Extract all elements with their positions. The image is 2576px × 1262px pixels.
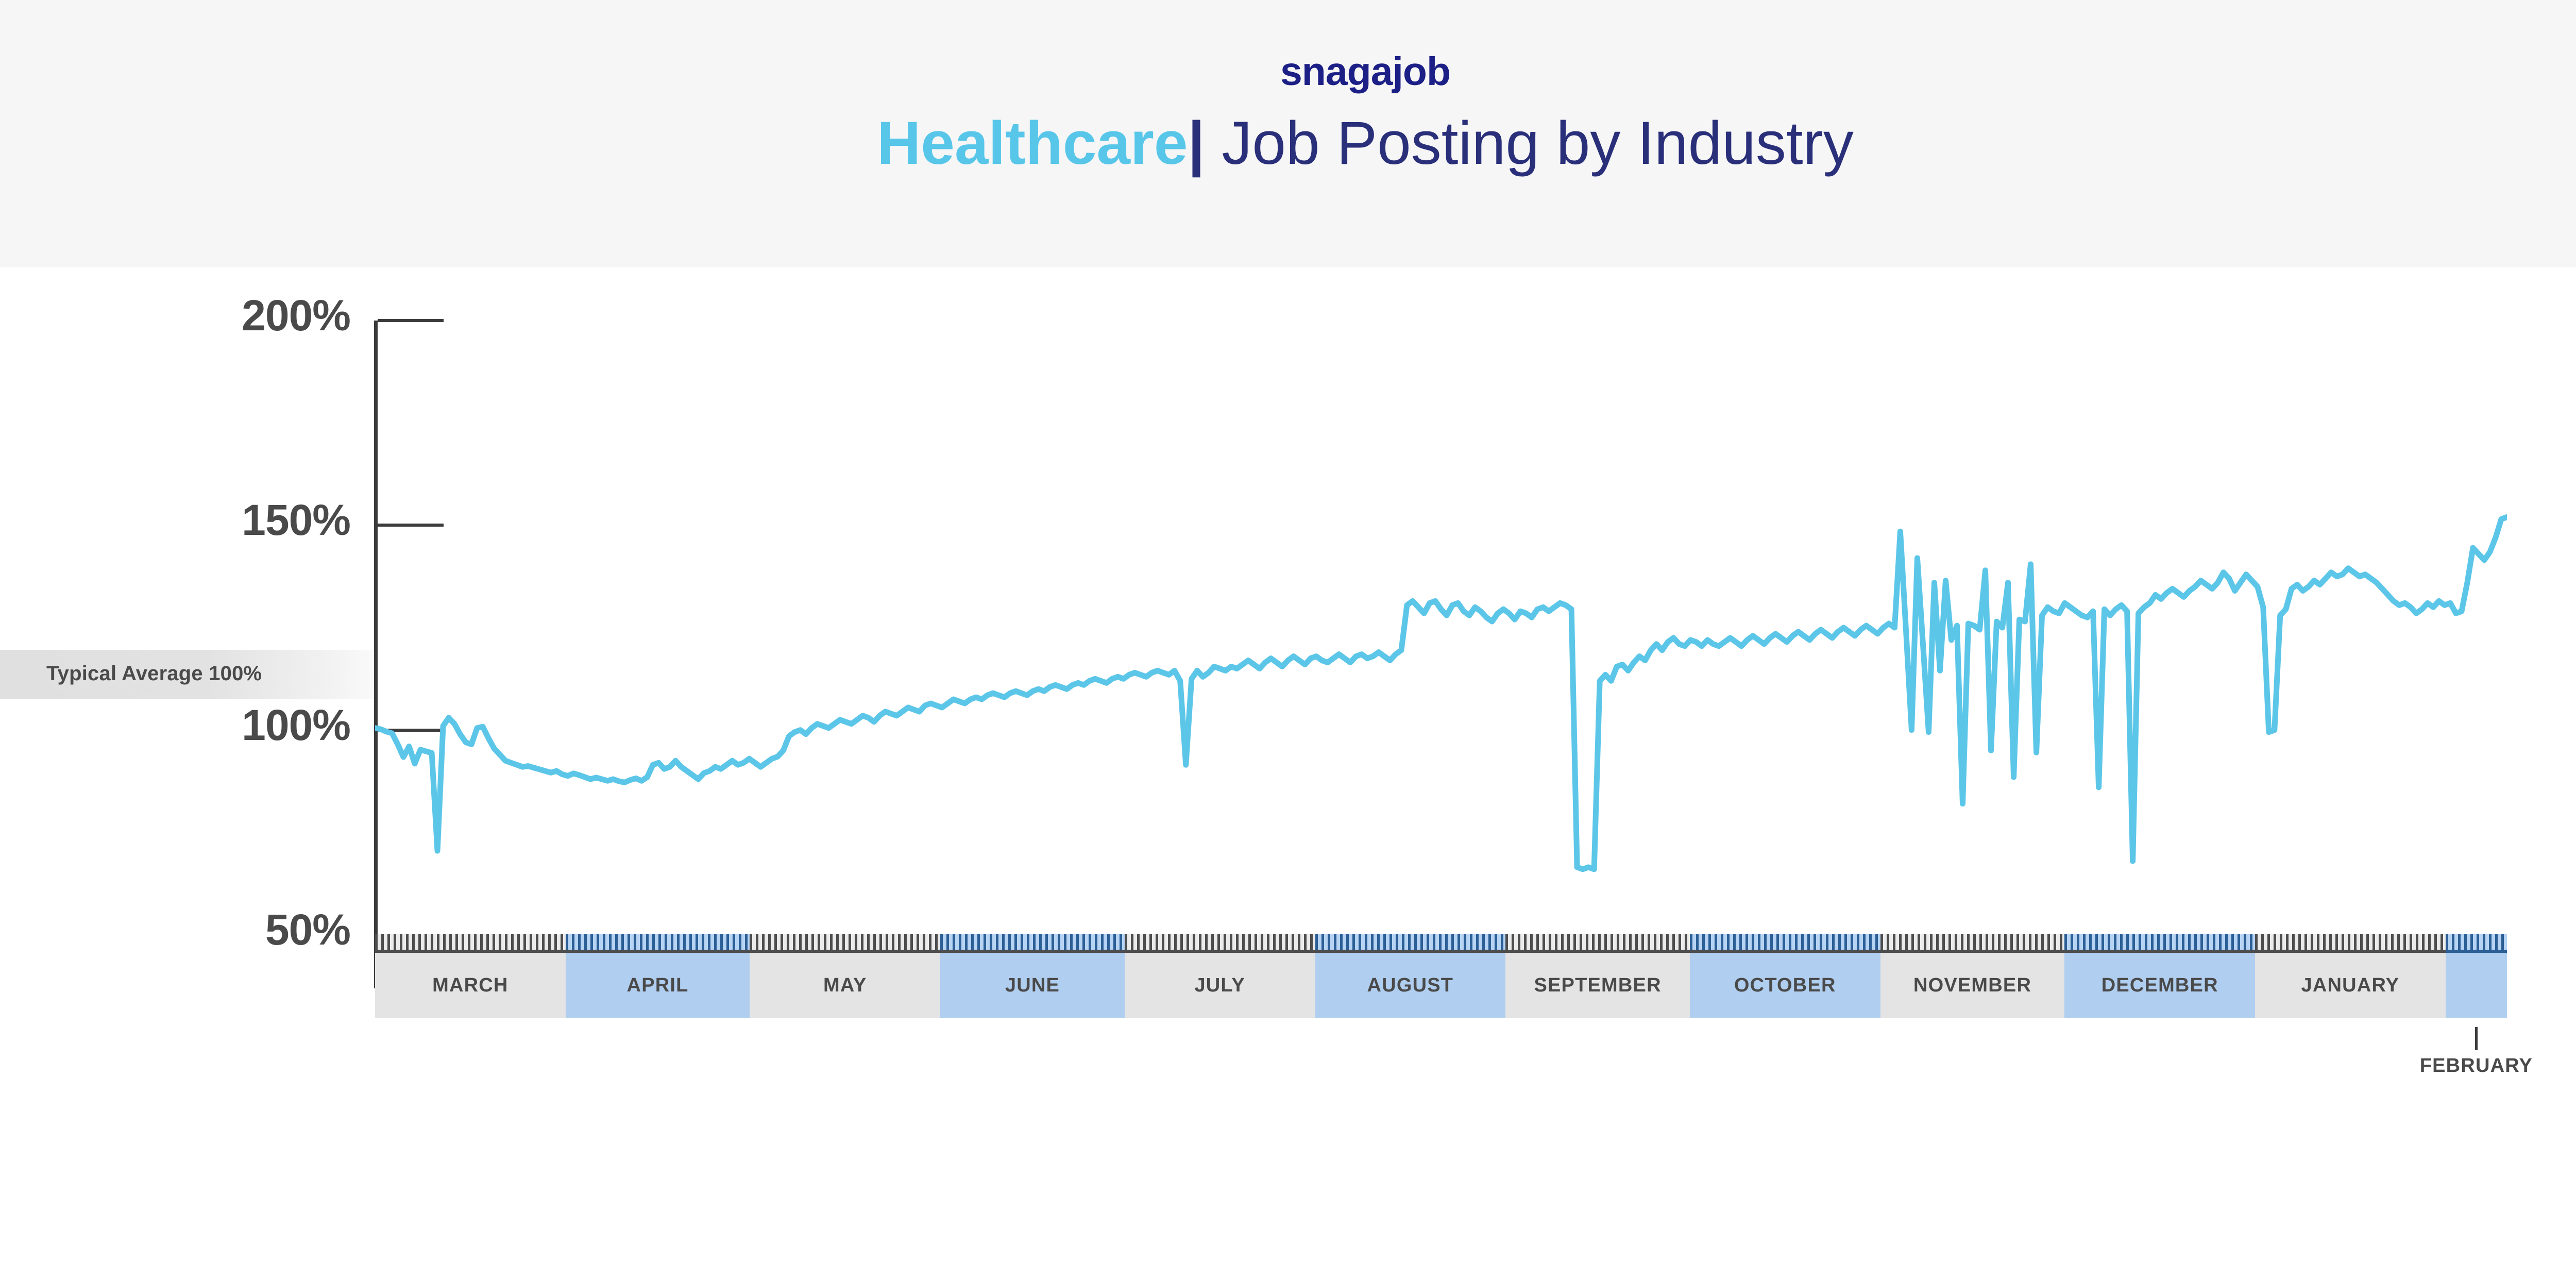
day-ticks-june xyxy=(940,934,1125,950)
title-separator: | xyxy=(1188,109,1205,177)
month-band-may[interactable]: MAY xyxy=(750,953,940,1018)
month-band-december[interactable]: DECEMBER xyxy=(2064,953,2255,1018)
month-label-september: SEPTEMBER xyxy=(1534,974,1661,997)
month-band-october[interactable]: OCTOBER xyxy=(1690,953,1880,1018)
day-ticks-november xyxy=(1880,934,2065,950)
day-tick-strip xyxy=(375,934,2507,950)
day-ticks-september xyxy=(1505,934,1690,950)
month-label-august: AUGUST xyxy=(1367,974,1454,997)
day-ticks-december xyxy=(2064,934,2255,950)
title-rest: Job Posting by Industry xyxy=(1222,109,1854,177)
month-band-july[interactable]: JULY xyxy=(1125,953,1315,1018)
day-ticks-july xyxy=(1125,934,1315,950)
y-axis-label-100: 100% xyxy=(62,700,350,750)
month-band-november[interactable]: NOVEMBER xyxy=(1880,953,2065,1018)
brand-logo: snagajob xyxy=(0,49,2576,95)
month-label-march: MARCH xyxy=(432,974,508,997)
day-tick-marks xyxy=(375,934,566,950)
month-label-june: JUNE xyxy=(1005,974,1060,997)
title-highlight: Healthcare xyxy=(877,109,1188,177)
month-label-july: JULY xyxy=(1194,974,1245,997)
month-band-march[interactable]: MARCH xyxy=(375,953,566,1018)
page-header: snagajob Healthcare| Job Posting by Indu… xyxy=(0,0,2576,267)
month-band-april[interactable]: APRIL xyxy=(566,953,750,1018)
y-axis-label-200: 200% xyxy=(62,291,350,341)
month-band-june[interactable]: JUNE xyxy=(940,953,1125,1018)
month-label-may: MAY xyxy=(823,974,867,997)
month-band-january[interactable]: JANUARY xyxy=(2255,953,2446,1018)
february-callout-label: FEBRUARY xyxy=(2373,1055,2576,1077)
month-label-april: APRIL xyxy=(627,974,689,997)
day-tick-marks xyxy=(1690,934,1880,950)
month-band-february[interactable] xyxy=(2446,953,2507,1018)
month-band-september[interactable]: SEPTEMBER xyxy=(1505,953,1690,1018)
day-ticks-january xyxy=(2255,934,2446,950)
typical-average-label: Typical Average 100% xyxy=(46,662,262,685)
day-ticks-march xyxy=(375,934,566,950)
day-tick-marks xyxy=(1880,934,2065,950)
day-ticks-february xyxy=(2446,934,2507,950)
day-tick-marks xyxy=(1125,934,1315,950)
y-axis-label-50: 50% xyxy=(62,905,350,955)
plot-area xyxy=(375,321,2507,935)
month-label-october: OCTOBER xyxy=(1734,974,1836,997)
month-band-august[interactable]: AUGUST xyxy=(1315,953,1506,1018)
month-label-november: NOVEMBER xyxy=(1913,974,2031,997)
day-tick-marks xyxy=(750,934,940,950)
day-tick-marks xyxy=(2446,934,2507,950)
line-chart-svg xyxy=(375,321,2507,935)
series-line-healthcare xyxy=(375,517,2507,869)
february-callout-tick xyxy=(2475,1027,2478,1050)
day-ticks-april xyxy=(566,934,750,950)
page-title: Healthcare| Job Posting by Industry xyxy=(0,108,2576,178)
month-label-january: JANUARY xyxy=(2301,974,2400,997)
day-tick-marks xyxy=(1505,934,1690,950)
month-band-row: MARCHAPRILMAYJUNEJULYAUGUSTSEPTEMBEROCTO… xyxy=(375,953,2507,1018)
day-tick-marks xyxy=(2064,934,2255,950)
day-tick-marks xyxy=(1315,934,1506,950)
y-axis-label-150: 150% xyxy=(62,495,350,545)
day-ticks-august xyxy=(1315,934,1506,950)
day-tick-marks xyxy=(566,934,750,950)
day-tick-marks xyxy=(940,934,1125,950)
day-ticks-october xyxy=(1690,934,1880,950)
day-tick-marks xyxy=(2255,934,2446,950)
day-ticks-may xyxy=(750,934,940,950)
chart-container: Typical Average 100% 200%150%100%50% MAR… xyxy=(0,267,2576,1262)
month-label-december: DECEMBER xyxy=(2102,974,2218,997)
